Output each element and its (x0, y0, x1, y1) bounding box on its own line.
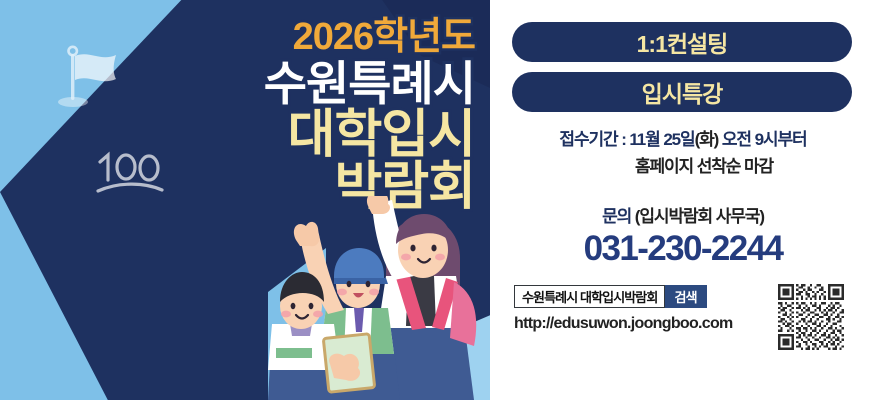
registration-info: 접수기간 : 11월 25일(화) 오전 9시부터 홈페이지 선착순 마감 (508, 128, 858, 179)
contact-info: 문의 (입시박람회 사무국) 031-230-2244 (508, 202, 858, 269)
contact-label-sub: (입시박람회 사무국) (631, 207, 764, 226)
students-illustration (268, 196, 490, 400)
score-100-icon (92, 148, 170, 200)
title-stack: 2026학년도 수원특례시 대학입시 박람회 (165, 18, 475, 213)
registration-period-line: 접수기간 : 11월 25일(화) 오전 9시부터 (508, 128, 858, 153)
registration-prefix: 접수기간 : (559, 130, 629, 149)
title-city: 수원특례시 (165, 60, 475, 107)
special-lecture-button[interactable]: 입시특강 (512, 72, 852, 112)
registration-note: 홈페이지 선착순 마감 (508, 155, 858, 180)
search-button[interactable]: 검색 (665, 285, 706, 308)
contact-label-main: 문의 (602, 207, 631, 226)
title-main-1: 대학입시 (165, 109, 475, 161)
website-url[interactable]: http://edusuwon.joongboo.com (514, 315, 733, 333)
search-input[interactable]: 수원특례시 대학입시박람회 (514, 285, 665, 308)
contact-label: 문의 (입시박람회 사무국) (508, 202, 858, 227)
registration-date: 11월 25일 (629, 130, 694, 149)
search-bar[interactable]: 수원특례시 대학입시박람회 검색 (514, 285, 707, 308)
consulting-button[interactable]: 1:1컨설팅 (512, 22, 852, 62)
left-panel: 2026학년도 수원특례시 대학입시 박람회 (0, 0, 490, 400)
registration-time: 오전 9시 (722, 130, 778, 149)
promo-banner: 2026학년도 수원특례시 대학입시 박람회 (0, 0, 874, 400)
title-year: 2026학년도 (165, 18, 475, 56)
registration-suffix: 부터 (777, 130, 806, 149)
contact-phone-number[interactable]: 031-230-2244 (508, 230, 858, 269)
qr-code[interactable] (766, 284, 856, 350)
flag-icon (52, 42, 124, 108)
registration-day: (화) (695, 130, 722, 149)
